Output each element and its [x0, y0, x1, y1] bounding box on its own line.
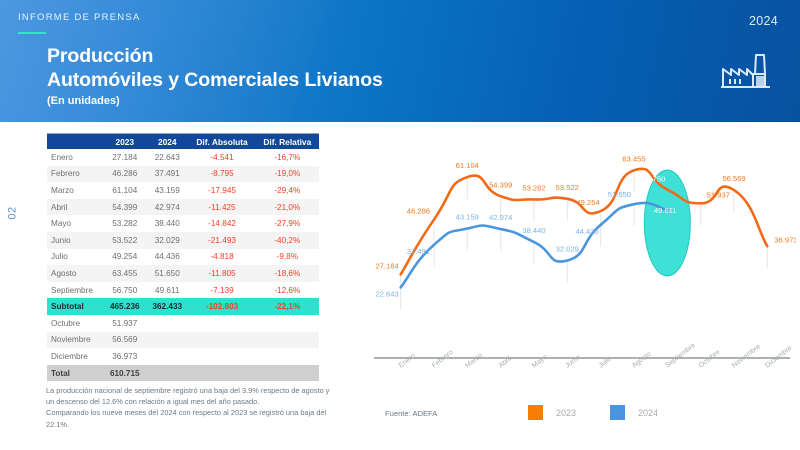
cell-month: Total	[47, 365, 104, 382]
cell-2024	[146, 365, 189, 382]
cell-dif-relativa	[256, 348, 319, 365]
cell-2024: 38.440	[146, 215, 189, 232]
legend-item-2024: 2024	[610, 405, 658, 420]
cell-dif-relativa: -27,9%	[256, 215, 319, 232]
cell-dif-absoluta	[189, 365, 256, 382]
page-title-line1: Producción	[47, 45, 383, 68]
data-label: 27.184	[375, 261, 398, 270]
cell-2024	[146, 332, 189, 349]
table-header-row: 2023 2024 Dif. Absoluta Dif. Relativa	[47, 134, 319, 149]
cell-dif-absoluta: -11.425	[189, 199, 256, 216]
cell-month: Noviembre	[47, 332, 104, 349]
cell-2023: 465.236	[104, 298, 147, 315]
cell-dif-relativa: -40,2%	[256, 232, 319, 249]
x-axis-tick-label: Noviembre	[731, 343, 762, 369]
report-kicker: INFORME DE PRENSA	[18, 12, 141, 23]
cell-2024: 42.974	[146, 199, 189, 216]
data-label: 61.104	[456, 161, 479, 170]
x-axis-tick-label: Abril	[498, 355, 514, 369]
cell-dif-absoluta: -14.842	[189, 215, 256, 232]
cell-dif-absoluta: -4.541	[189, 149, 256, 166]
data-label: 32.029	[556, 245, 579, 254]
cell-dif-relativa: -12,6%	[256, 282, 319, 299]
data-label: 51.650	[608, 190, 631, 199]
x-axis-tick-label: Junio	[564, 354, 582, 370]
cell-dif-absoluta: -11.805	[189, 265, 256, 282]
data-label: 51.937	[707, 190, 730, 199]
col-header-2023: 2023	[104, 134, 147, 149]
cell-dif-relativa: -22,1%	[256, 298, 319, 315]
table-row: Octubre51.937	[47, 315, 319, 332]
footnote-paragraph-2: Comparando los nueve meses del 2024 con …	[46, 407, 336, 429]
legend-label-2024: 2024	[638, 408, 658, 418]
cell-2023: 56.750	[104, 282, 147, 299]
cell-dif-relativa: -29,4%	[256, 182, 319, 199]
cell-2023: 610.715	[104, 365, 147, 382]
cell-dif-relativa: -16,7%	[256, 149, 319, 166]
cell-2024: 22.643	[146, 149, 189, 166]
data-label: 56.750	[642, 175, 665, 184]
cell-dif-absoluta: -21.493	[189, 232, 256, 249]
source-label: Fuente: ADEFA	[385, 409, 437, 418]
footnote-paragraph-1: La producción nacional de septiembre reg…	[46, 385, 336, 407]
cell-dif-relativa: -19,0%	[256, 166, 319, 183]
cell-2023: 61.104	[104, 182, 147, 199]
data-label: 36.973	[774, 235, 796, 244]
legend-item-2023: 2023	[528, 405, 576, 420]
title-block: Producción Automóviles y Comerciales Liv…	[47, 45, 383, 109]
data-label: 63.455	[622, 154, 645, 163]
table-row: Agosto63.45551.650-11.805-18,6%	[47, 265, 319, 282]
data-label: 44.436	[575, 227, 598, 236]
cell-dif-relativa	[256, 332, 319, 349]
x-axis-tick-label: Enero	[398, 352, 417, 369]
x-axis-tick-label: Febrero	[431, 349, 455, 370]
col-header-dif-absoluta: Dif. Absoluta	[189, 134, 256, 149]
kicker-underline	[18, 32, 46, 34]
x-axis-tick-label: Diciembre	[764, 345, 793, 370]
page-title-line2: Automóviles y Comerciales Livianos	[47, 68, 383, 92]
col-header-month	[47, 134, 104, 149]
cell-month: Septiembre	[47, 282, 104, 299]
data-label: 37.491	[407, 247, 430, 256]
chart-legend: Fuente: ADEFA 2023 2024	[360, 404, 796, 426]
cell-2023: 56.569	[104, 332, 147, 349]
x-axis-tick-label: Agosto	[631, 351, 653, 370]
table-row: Noviembre56.569	[47, 332, 319, 349]
x-axis-tick-label: Septiembre	[664, 342, 697, 370]
cell-2023: 51.937	[104, 315, 147, 332]
cell-month: Diciembre	[47, 348, 104, 365]
cell-dif-relativa: -18,6%	[256, 265, 319, 282]
cell-2024: 49.611	[146, 282, 189, 299]
col-header-dif-relativa: Dif. Relativa	[256, 134, 319, 149]
cell-2023: 63.455	[104, 265, 147, 282]
page-number: 02	[7, 206, 19, 219]
table-row: Mayo53.28238.440-14.842-27,9%	[47, 215, 319, 232]
table-row: Enero27.18422.643-4.541-16,7%	[47, 149, 319, 166]
cell-2023: 46.286	[104, 166, 147, 183]
cell-2023: 53.522	[104, 232, 147, 249]
cell-2023: 27.184	[104, 149, 147, 166]
cell-2024	[146, 348, 189, 365]
cell-dif-absoluta	[189, 315, 256, 332]
cell-dif-relativa	[256, 315, 319, 332]
data-label: 22.643	[375, 289, 398, 298]
cell-dif-absoluta: -102.803	[189, 298, 256, 315]
chart-canvas: 27.18446.28661.10454.39953.28253.52249.2…	[360, 145, 796, 445]
cell-2024: 32.029	[146, 232, 189, 249]
cell-month: Abril	[47, 199, 104, 216]
cell-month: Mayo	[47, 215, 104, 232]
cell-2024: 43.159	[146, 182, 189, 199]
data-label: 49.254	[576, 198, 599, 207]
page-header: INFORME DE PRENSA Producción Automóviles…	[0, 0, 800, 122]
cell-month: Enero	[47, 149, 104, 166]
x-axis-tick-label: Julio	[598, 355, 614, 369]
cell-dif-absoluta	[189, 332, 256, 349]
cell-2023: 54.399	[104, 199, 147, 216]
footnote-block: La producción nacional de septiembre reg…	[46, 385, 336, 430]
cell-month: Marzo	[47, 182, 104, 199]
cell-month: Julio	[47, 249, 104, 266]
cell-2024: 51.650	[146, 265, 189, 282]
production-line-chart: 27.18446.28661.10454.39953.28253.52249.2…	[360, 145, 796, 445]
table-row: Junio53.52232.029-21.493-40,2%	[47, 232, 319, 249]
legend-swatch-2023	[528, 405, 543, 420]
table-row: Diciembre36.973	[47, 348, 319, 365]
table-body: Enero27.18422.643-4.541-16,7%Febrero46.2…	[47, 149, 319, 381]
year-badge: 2024	[749, 14, 778, 28]
production-table: 2023 2024 Dif. Absoluta Dif. Relativa En…	[47, 134, 319, 381]
cell-2023: 53.282	[104, 215, 147, 232]
factory-icon	[720, 50, 772, 95]
table-row: Abril54.39942.974-11.425-21,0%	[47, 199, 319, 216]
production-table-container: 2023 2024 Dif. Absoluta Dif. Relativa En…	[47, 134, 319, 381]
cell-2023: 36.973	[104, 348, 147, 365]
cell-month: Octubre	[47, 315, 104, 332]
cell-2024: 44.436	[146, 249, 189, 266]
x-axis-tick-label: Marzo	[464, 352, 484, 370]
data-label: 38.440	[522, 226, 545, 235]
table-row: Septiembre56.75049.611-7.139-12,6%	[47, 282, 319, 299]
table-row: Marzo61.10443.159-17.945-29,4%	[47, 182, 319, 199]
data-label: 53.522	[556, 183, 579, 192]
data-label: 56.569	[722, 174, 745, 183]
cell-month: Junio	[47, 232, 104, 249]
data-label: 43.159	[456, 213, 479, 222]
cell-2024	[146, 315, 189, 332]
cell-dif-absoluta: -8.795	[189, 166, 256, 183]
page-subtitle: (En unidades)	[47, 93, 383, 109]
cell-month: Agosto	[47, 265, 104, 282]
cell-month: Febrero	[47, 166, 104, 183]
cell-2023: 49.254	[104, 249, 147, 266]
cell-dif-absoluta: -7.139	[189, 282, 256, 299]
data-label: 54.399	[489, 180, 512, 189]
cell-month: Subtotal	[47, 298, 104, 315]
data-label: 46.286	[407, 207, 430, 216]
legend-swatch-2024	[610, 405, 625, 420]
legend-label-2023: 2023	[556, 408, 576, 418]
x-axis-tick-label: Octubre	[698, 349, 722, 370]
cell-dif-absoluta	[189, 348, 256, 365]
cell-dif-relativa: -21,0%	[256, 199, 319, 216]
cell-2024: 37.491	[146, 166, 189, 183]
cell-dif-absoluta: -4.818	[189, 249, 256, 266]
col-header-2024: 2024	[146, 134, 189, 149]
table-row: Julio49.25444.436-4.818-9,8%	[47, 249, 319, 266]
data-label: 49.611	[654, 206, 677, 215]
cell-dif-relativa	[256, 365, 319, 382]
table-row: Subtotal465.236362.433-102.803-22,1%	[47, 298, 319, 315]
table-row: Total610.715	[47, 365, 319, 382]
x-axis-tick-label: Mayo	[531, 353, 549, 369]
data-label: 42.974	[489, 213, 512, 222]
cell-dif-absoluta: -17.945	[189, 182, 256, 199]
cell-dif-relativa: -9,8%	[256, 249, 319, 266]
data-label: 53.282	[522, 184, 545, 193]
table-row: Febrero46.28637.491-8.795-19,0%	[47, 166, 319, 183]
cell-2024: 362.433	[146, 298, 189, 315]
